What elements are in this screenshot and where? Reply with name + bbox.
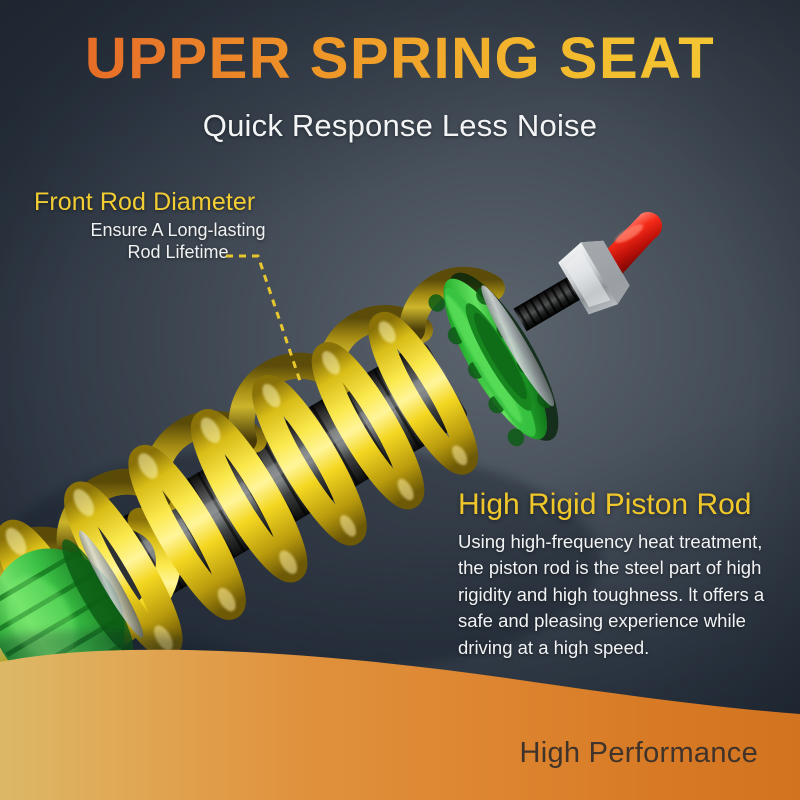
callout-left-subtitle-line2: Rod Lifetime: [52, 242, 304, 264]
bottom-banner: [0, 640, 800, 800]
callout-left-subtitle: Ensure A Long-lasting Rod Lifetime: [34, 220, 304, 264]
callout-left-subtitle-line1: Ensure A Long-lasting: [52, 220, 304, 242]
callout-front-rod-diameter: Front Rod Diameter Ensure A Long-lasting…: [34, 188, 304, 264]
page-title: UPPER SPRING SEAT: [0, 30, 800, 88]
callout-left-title: Front Rod Diameter: [34, 188, 304, 217]
callout-right-title: High Rigid Piston Rod: [458, 488, 788, 522]
product-banner: UPPER SPRING SEAT Quick Response Less No…: [0, 0, 800, 800]
page-subtitle: Quick Response Less Noise: [0, 108, 800, 144]
callout-high-rigid-piston-rod: High Rigid Piston Rod Using high-frequen…: [458, 488, 788, 662]
banner-label: High Performance: [519, 737, 758, 770]
